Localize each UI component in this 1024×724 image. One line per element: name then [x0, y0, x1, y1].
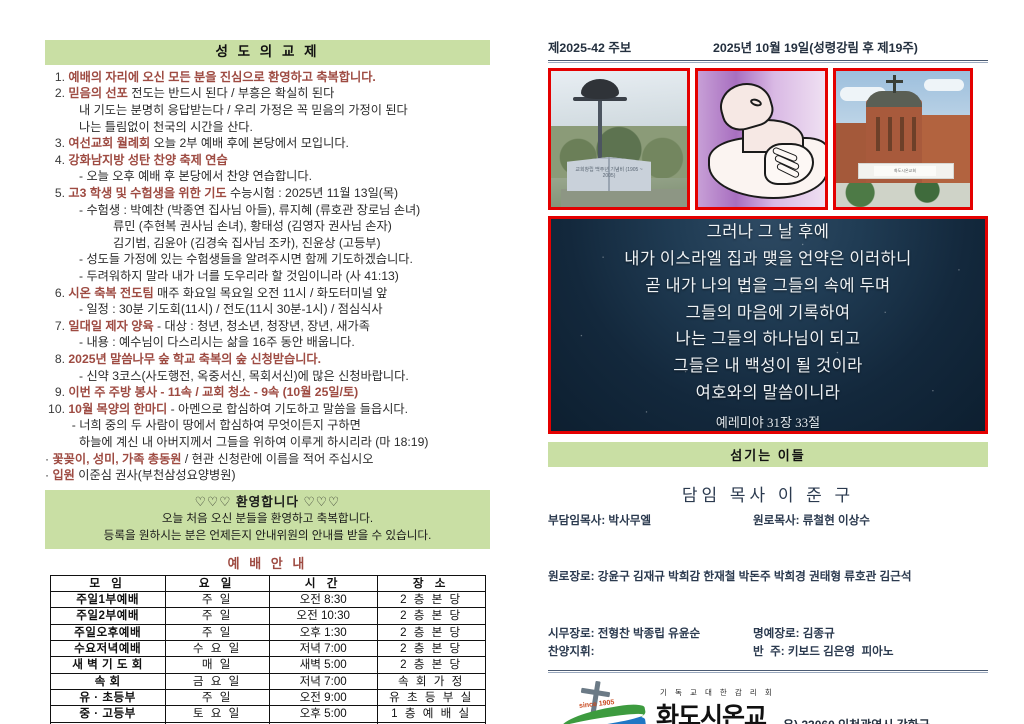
- verse-line: 그들은 내 백성이 될 것이라: [673, 353, 862, 380]
- cell-meeting: 새 벽 기 도 회: [50, 657, 165, 673]
- table-row: 주일1부예배 주 일 오전 8:30 2 층 본 당: [50, 591, 485, 607]
- list-item: 7. 일대일 제자 양육 - 대상 : 청년, 청소년, 청장년, 장년, 새가…: [45, 318, 490, 351]
- cell-place: 2 층 본 당: [377, 640, 485, 656]
- verse-line: 그들의 마음에 기록하여: [686, 300, 851, 327]
- bullet-mark: ·: [45, 468, 49, 482]
- notice-7-dash-1: - 내용 : 예수님이 다스리시는 삶을 16주 동안 배웁니다.: [45, 334, 490, 351]
- notice-3-rest: 오늘 2부 예배 후에 본당에서 모입니다.: [150, 136, 349, 150]
- tower-window: [876, 117, 880, 151]
- tower-window: [888, 117, 892, 151]
- notice-5-head: 고3 학생 및 수험생을 위한 기도: [68, 186, 226, 200]
- table-row: 중 · 고등부 토 요 일 오후 5:00 1 층 예 배 실: [50, 706, 485, 722]
- cell-day: 주 일: [165, 624, 269, 640]
- cell-time: 오후 5:00: [269, 706, 377, 722]
- list-item: 8. 2025년 말씀나무 숲 학교 축복의 숲 신청받습니다. - 신약 3코…: [45, 351, 490, 384]
- verse-line: 곧 내가 나의 법을 그들의 속에 두며: [645, 273, 890, 300]
- cell-meeting: 주일오후예배: [50, 624, 165, 640]
- verse-line: 그러나 그 날 후에: [707, 219, 830, 246]
- notice-8-dash-1: - 신약 3코스(사도행전, 옥중서신, 목회서신)에 많은 신청바랍니다.: [45, 368, 490, 385]
- monument-pole: [598, 93, 602, 165]
- choir-conductor: 찬양지휘:: [548, 643, 753, 662]
- accompanists: 반 주: 키보드 김은영 피아노: [753, 643, 988, 662]
- list-item: · 입원 이준심 권사(부천삼성요양병원): [45, 467, 490, 484]
- bullet-2-head: 입원: [52, 468, 74, 482]
- left-column: 성 도 의 교 제 1. 예배의 자리에 오신 모든 분을 진심으로 환영하고 …: [45, 40, 490, 724]
- table-row: 새 벽 기 도 회 매 일 새벽 5:00 2 층 본 당: [50, 657, 485, 673]
- cell-meeting: 중 · 고등부: [50, 706, 165, 722]
- notice-4-dash-1: - 오늘 오후 예배 후 본당에서 찬양 연습합니다.: [45, 168, 490, 185]
- building-right-wing: [922, 115, 972, 191]
- notice-7-head: 일대일 제자 양육: [68, 319, 153, 333]
- monument-base: [561, 189, 690, 210]
- table-header-row: 모 임 요 일 시 간 장 소: [50, 575, 485, 591]
- cell-day: 수 요 일: [165, 640, 269, 656]
- cloud-2: [924, 79, 964, 91]
- verse-line: 나는 그들의 하나님이 되고: [676, 326, 861, 353]
- cell-place: 2 층 본 당: [377, 624, 485, 640]
- staff-row: 부담임목사: 박사무엘 원로목사: 류철현 이상수: [548, 512, 988, 531]
- list-item: 5. 고3 학생 및 수험생을 위한 기도 수능시험 : 2025년 11월 1…: [45, 185, 490, 285]
- cross-icon-bar: [886, 80, 903, 83]
- bullet-1-rest: / 현관 신청란에 이름을 적어 주십시오: [182, 452, 374, 466]
- associate-pastor: 부담임목사: 박사무엘: [548, 512, 753, 531]
- emeritus-pastor: 원로목사: 류철현 이상수: [753, 512, 988, 531]
- list-item: 1. 예배의 자리에 오신 모든 분을 진심으로 환영하고 축복합니다.: [45, 69, 490, 86]
- servants-section-title: 섬기는 이들: [548, 442, 988, 467]
- welcome-title: ♡♡♡ 환영합니다 ♡♡♡: [45, 493, 490, 511]
- verse-line: 내가 이스라엘 집과 맺을 언약은 이러하니: [624, 246, 912, 273]
- announcement-list: 1. 예배의 자리에 오신 모든 분을 진심으로 환영하고 축복합니다. 2. …: [45, 69, 490, 484]
- cell-day: 금 요 일: [165, 673, 269, 689]
- list-item: 3. 여선교회 월례회 오늘 2부 예배 후에 본당에서 모입니다.: [45, 135, 490, 152]
- column-header-meeting: 모 임: [50, 575, 165, 591]
- cell-time: 저녁 7:00: [269, 673, 377, 689]
- cell-day: 토 요 일: [165, 706, 269, 722]
- column-header-day: 요 일: [165, 575, 269, 591]
- notice-1-head: 예배의 자리에 오신 모든 분을 진심으로 환영하고 축복합니다.: [68, 70, 375, 84]
- building-left-wing: [836, 123, 868, 191]
- serving-elders: 시무장로: 전형찬 박종립 유윤순: [548, 625, 753, 644]
- notice-3-head: 여선교회 월례회: [68, 136, 150, 150]
- welcome-line-1: 오늘 처음 오신 분들을 환영하고 축복합니다.: [45, 511, 490, 528]
- footer-divider: [548, 670, 988, 673]
- notice-2-sub-2: 나는 틀림없이 천국의 시간을 산다.: [45, 119, 490, 136]
- cross-icon: [893, 75, 896, 93]
- notice-10-head: 10월 목양의 한마디: [68, 402, 167, 416]
- footer: since 1905 기 독 교 대 한 감 리 회 화도시온교회 우) 230…: [548, 679, 988, 724]
- staff-row: 시무장로: 전형찬 박종립 유윤순 명예장로: 김종규: [548, 625, 988, 644]
- bulletin-page: 성 도 의 교 제 1. 예배의 자리에 오신 모든 분을 진심으로 환영하고 …: [0, 0, 1024, 724]
- notice-10-dash-1: - 너희 중의 두 사람이 땅에서 합심하여 무엇이든지 구하면: [72, 418, 361, 432]
- church-logo: since 1905 기 독 교 대 한 감 리 회 화도시온교회: [548, 679, 783, 724]
- cell-time: 오후 1:30: [269, 624, 377, 640]
- notice-6-rest: 매주 화요일 목요일 오전 11시 / 화도터미널 앞: [154, 286, 388, 300]
- list-item: 2. 믿음의 선포 전도는 반드시 된다 / 부흥은 확실히 된다 내 기도는 …: [45, 85, 490, 135]
- notice-5-dash-1: - 수험생 : 박예찬 (박종연 집사님 아들), 류지혜 (류호관 장로님 손…: [45, 202, 490, 219]
- fellowship-section-title: 성 도 의 교 제: [45, 40, 490, 65]
- notice-9-head: 이번 주 주방 봉사: [68, 385, 157, 399]
- worship-schedule-table: 모 임 요 일 시 간 장 소 주일1부예배 주 일 오전 8:30 2 층 본…: [50, 575, 486, 724]
- bulletin-header: 제2025-42 주보 2025년 10월 19일(성령강림 후 제19주): [548, 38, 988, 60]
- table-row: 주일오후예배 주 일 오후 1:30 2 층 본 당: [50, 624, 485, 640]
- notice-4-head: 강화남지방 성탄 찬양 축제 연습: [68, 153, 227, 167]
- notice-8-head: 2025년 말씀나무 숲 학교 축복의 숲 신청받습니다.: [68, 352, 321, 366]
- cell-place: 2 층 본 당: [377, 608, 485, 624]
- bell-icon: [581, 79, 619, 99]
- right-column: 제2025-42 주보 2025년 10월 19일(성령강림 후 제19주) 교…: [548, 38, 988, 724]
- cell-day: 매 일: [165, 657, 269, 673]
- table-row: 수요저녁예배 수 요 일 저녁 7:00 2 층 본 당: [50, 640, 485, 656]
- notice-9-rest: - 11속 / 교회 청소 - 9속 (10월 25일/토): [157, 385, 358, 399]
- notice-2-rest: 전도는 반드시 된다 / 부흥은 확실히 된다: [128, 86, 335, 100]
- centennial-monument-photo: 교회창립 백주년 기념비 (1905 ~ 2005): [548, 68, 690, 210]
- bullet-1-head: 꽃꽂이, 성미, 가족 총동원: [52, 452, 181, 466]
- address-line-1: 우) 23060 인천광역시 강화군: [783, 716, 988, 724]
- verse-line: 여호와의 말씀이니라: [696, 380, 841, 407]
- church-address: 우) 23060 인천광역시 강화군 화도면 마니산로 724번길 13 ☎ 0…: [783, 679, 988, 724]
- notice-5-dash-5: - 두려워하지 말라 내가 너를 도우리라 할 것임이니라 (사 41:13): [45, 268, 490, 285]
- list-item: 10. 10월 목양의 한마디 - 아멘으로 합심하여 기도하고 말씀을 들읍시…: [45, 401, 490, 451]
- notice-7-rest: - 대상 : 청년, 청소년, 청장년, 장년, 새가족: [154, 319, 370, 333]
- photo-row: 교회창립 백주년 기념비 (1905 ~ 2005): [548, 68, 988, 210]
- notice-6-head: 시온 축복 전도팀: [68, 286, 153, 300]
- table-row: 유 · 초등부 주 일 오전 9:00 유 초 등 부 실: [50, 689, 485, 705]
- notice-6-dash-1: - 일정 : 30분 기도회(11시) / 전도(11시 30분-1시) / 점…: [45, 301, 490, 318]
- staff-row: 찬양지휘: 반 주: 키보드 김은영 피아노: [548, 643, 988, 662]
- list-item: 4. 강화남지방 성탄 찬양 축제 연습 - 오늘 오후 예배 후 본당에서 찬…: [45, 152, 490, 185]
- emeritus-elders: 원로장로: 강윤구 김재규 박희감 한재철 박돈주 박희경 권태형 류호관 김근…: [548, 568, 988, 587]
- notice-10-rest: - 아멘으로 합심하여 기도하고 말씀을 들읍시다.: [167, 402, 408, 416]
- list-item: 6. 시온 축복 전도팀 매주 화요일 목요일 오전 11시 / 화도터미널 앞…: [45, 285, 490, 318]
- cell-place: 2 층 본 당: [377, 591, 485, 607]
- staff-row: 원로장로: 강윤구 김재규 박희감 한재철 박돈주 박희경 권태형 류호관 김근…: [548, 531, 988, 625]
- notice-5-rest: 수능시험 : 2025년 11월 13일(목): [227, 186, 398, 200]
- cell-time: 오전 9:00: [269, 689, 377, 705]
- cell-time: 저녁 7:00: [269, 640, 377, 656]
- welcome-box: ♡♡♡ 환영합니다 ♡♡♡ 오늘 처음 오신 분들을 환영하고 축복합니다. 등…: [45, 490, 490, 549]
- header-divider: [548, 60, 988, 63]
- cell-meeting: 속 회: [50, 673, 165, 689]
- cell-time: 새벽 5:00: [269, 657, 377, 673]
- senior-pastor-name: 담임 목사 이 준 구: [548, 481, 988, 506]
- church-name-text: 화도시온교회: [656, 697, 783, 724]
- list-item: 9. 이번 주 주방 봉사 - 11속 / 교회 청소 - 9속 (10월 25…: [45, 384, 490, 401]
- notice-2-head: 믿음의 선포: [68, 86, 127, 100]
- cell-place: 속 회 가 정: [377, 673, 485, 689]
- cell-day: 주 일: [165, 591, 269, 607]
- cell-time: 오전 8:30: [269, 591, 377, 607]
- cell-place: 1 층 예 배 실: [377, 706, 485, 722]
- list-item: · 꽃꽂이, 성미, 가족 총동원 / 현관 신청란에 이름을 적어 주십시오: [45, 451, 490, 468]
- tower-window: [912, 117, 916, 151]
- cell-meeting: 주일2부예배: [50, 608, 165, 624]
- monument-caption: 교회창립 백주년 기념비 (1905 ~ 2005): [571, 166, 647, 179]
- notice-10-dash-2: 하늘에 계신 내 아버지께서 그들을 위하여 이루게 하시리라 (마 18:19…: [45, 434, 490, 451]
- notice-5-dash-4: - 성도들 가정에 있는 수험생들을 알려주시면 함께 기도하겠습니다.: [45, 251, 490, 268]
- tower-dome: [866, 91, 922, 107]
- cell-day: 주 일: [165, 608, 269, 624]
- church-building-photo: 화도시온교회: [833, 68, 973, 210]
- cell-place: 유 초 등 부 실: [377, 689, 485, 705]
- notice-5-dash-2: 류민 (추현복 권사님 손녀), 황태성 (김영자 권사님 손자): [45, 218, 490, 235]
- praying-hands-illustration: [695, 68, 828, 210]
- cell-place: 2 층 본 당: [377, 657, 485, 673]
- bullet-2-rest: 이준심 권사(부천삼성요양병원): [75, 468, 236, 482]
- worship-guide-heading: 예 배 안 내: [45, 553, 490, 572]
- cell-meeting: 수요저녁예배: [50, 640, 165, 656]
- tower-window: [900, 117, 904, 151]
- table-row: 주일2부예배 주 일 오전 10:30 2 층 본 당: [50, 608, 485, 624]
- cell-meeting: 주일1부예배: [50, 591, 165, 607]
- verse-reference: 예레미야 31장 33절: [716, 412, 820, 431]
- column-header-time: 시 간: [269, 575, 377, 591]
- honorary-elder: 명예장로: 김종규: [753, 625, 988, 644]
- ground-landscaping: [836, 183, 970, 207]
- bulletin-number: 제2025-42 주보: [548, 38, 713, 56]
- welcome-line-2: 등록을 원하시는 분은 언제든지 안내위원의 안내를 받을 수 있습니다.: [45, 528, 490, 545]
- notice-2-sub-1: 내 기도는 분명히 응답받는다 / 우리 가정은 꼭 믿음의 가정이 된다: [45, 102, 490, 119]
- entrance-banner: 화도시온교회: [874, 166, 936, 176]
- bulletin-date: 2025년 10월 19일(성령강림 후 제19주): [713, 38, 988, 56]
- column-header-place: 장 소: [377, 575, 485, 591]
- bullet-mark: ·: [45, 452, 49, 466]
- table-row: 속 회 금 요 일 저녁 7:00 속 회 가 정: [50, 673, 485, 689]
- notice-5-dash-3: 김기범, 김윤아 (김경숙 집사님 조카), 진윤상 (고등부): [45, 235, 490, 252]
- scripture-verse-box: 그러나 그 날 후에 내가 이스라엘 집과 맺을 언약은 이러하니 곧 내가 나…: [548, 216, 988, 434]
- cell-time: 오전 10:30: [269, 608, 377, 624]
- cell-day: 주 일: [165, 689, 269, 705]
- cell-meeting: 유 · 초등부: [50, 689, 165, 705]
